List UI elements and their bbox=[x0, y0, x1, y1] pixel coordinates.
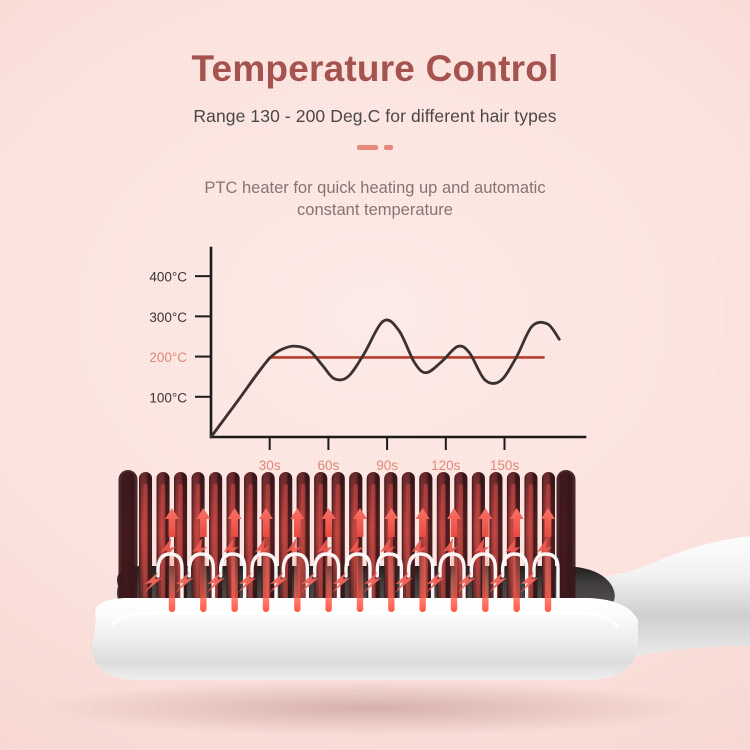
heat-glow-shaft bbox=[513, 554, 519, 612]
page-title: Temperature Control bbox=[0, 48, 750, 90]
bristle-glow bbox=[476, 484, 480, 602]
heat-glow-shaft bbox=[545, 554, 551, 612]
description-line-2: constant temperature bbox=[0, 199, 750, 221]
heat-glow-shaft bbox=[200, 554, 206, 612]
chart-y-tick-label: 400°C bbox=[149, 270, 187, 285]
chart-series-line bbox=[211, 320, 559, 437]
bristle-glow bbox=[319, 484, 323, 602]
bristle-end-cap bbox=[119, 470, 138, 612]
product-shadow bbox=[40, 680, 700, 736]
heat-glow-shaft bbox=[419, 554, 425, 612]
heat-glow-shaft bbox=[388, 554, 394, 612]
divider-dash-long bbox=[357, 145, 378, 150]
temperature-chart: 100°C200°C300°C400°C 30s60s90s120s150s bbox=[0, 236, 750, 486]
chart-y-tick-labels: 100°C200°C300°C400°C bbox=[149, 270, 187, 406]
heat-glow-shaft bbox=[169, 554, 175, 612]
description-line-1: PTC heater for quick heating up and auto… bbox=[0, 177, 750, 199]
bristle-glow bbox=[143, 484, 147, 602]
bristle-glow bbox=[161, 484, 165, 602]
page-description: PTC heater for quick heating up and auto… bbox=[0, 177, 750, 221]
temperature-chart-svg: 100°C200°C300°C400°C 30s60s90s120s150s bbox=[0, 236, 750, 486]
chart-axes bbox=[211, 248, 585, 437]
heat-glow-shaft bbox=[263, 554, 269, 612]
divider-dash-short bbox=[384, 145, 393, 150]
product-image bbox=[0, 450, 750, 750]
chart-tick-marks bbox=[195, 276, 505, 450]
chart-y-tick-label: 100°C bbox=[149, 390, 187, 405]
header-block: Temperature Control Range 130 - 200 Deg.… bbox=[0, 0, 750, 221]
heat-glow-shaft bbox=[451, 554, 457, 612]
bristle-glow bbox=[301, 484, 305, 602]
chart-series bbox=[211, 320, 559, 437]
heat-glow-shaft bbox=[357, 554, 363, 612]
heat-glow-shaft bbox=[482, 554, 488, 612]
chart-y-tick-label: 300°C bbox=[149, 310, 187, 325]
heat-glow-shaft bbox=[325, 554, 331, 612]
chart-y-tick-label: 200°C bbox=[149, 350, 187, 365]
infographic-page: Temperature Control Range 130 - 200 Deg.… bbox=[0, 0, 750, 750]
heat-glow-shaft bbox=[231, 554, 237, 612]
bristle-glow bbox=[406, 484, 410, 602]
bristle-glow bbox=[248, 484, 252, 602]
product-image-svg bbox=[0, 450, 750, 750]
bristle-glow bbox=[441, 484, 445, 602]
heat-glow-shaft bbox=[294, 554, 300, 612]
page-subtitle: Range 130 - 200 Deg.C for different hair… bbox=[0, 106, 750, 127]
bristle-glow bbox=[283, 484, 287, 602]
divider bbox=[0, 144, 750, 150]
